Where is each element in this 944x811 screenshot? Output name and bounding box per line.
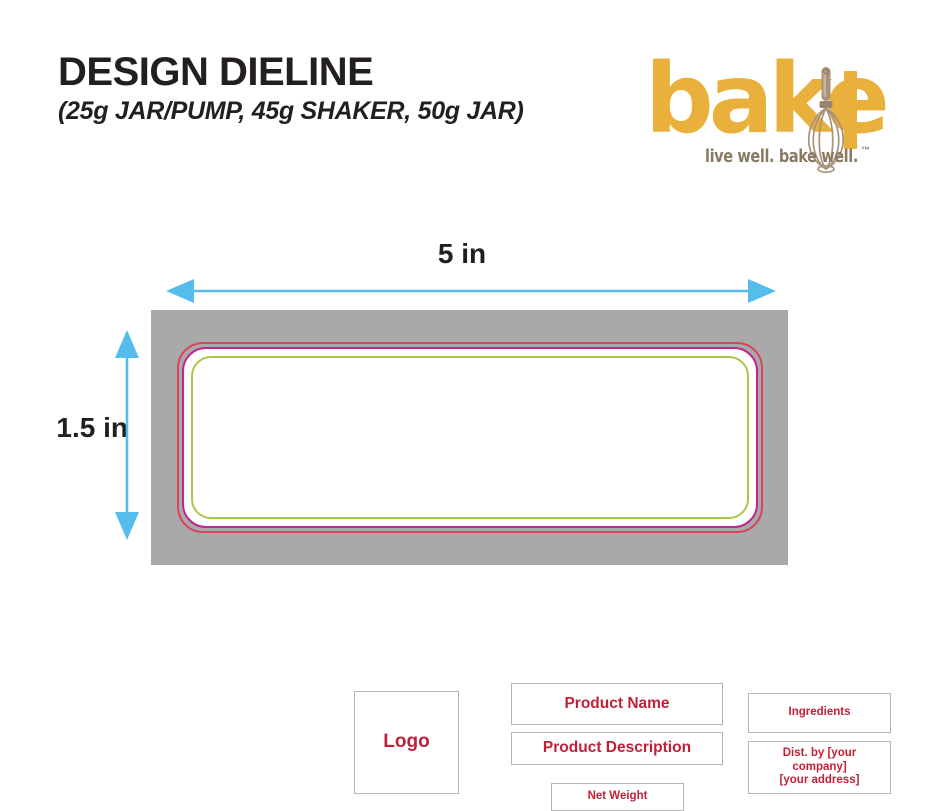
product-description-box[interactable]: Product Description — [511, 732, 723, 765]
distributor-box[interactable]: Dist. by [your company] [your address] — [748, 741, 891, 794]
horizontal-dimension-arrow — [166, 278, 776, 304]
width-dimension-label: 5 in — [0, 238, 944, 270]
trademark-symbol: ™ — [861, 145, 870, 155]
vertical-dimension-arrow — [114, 330, 140, 540]
product-name-box[interactable]: Product Name — [511, 683, 723, 725]
design-dieline-page: DESIGN DIELINE (25g JAR/PUMP, 45g SHAKER… — [0, 0, 944, 700]
logo-tagline: live well. bake well. — [705, 147, 858, 167]
title-block: DESIGN DIELINE (25g JAR/PUMP, 45g SHAKER… — [58, 52, 524, 124]
page-title: DESIGN DIELINE — [58, 52, 524, 92]
net-weight-box[interactable]: Net Weight — [551, 783, 684, 811]
logo-placeholder-box[interactable]: Logo — [354, 691, 459, 794]
safe-zone-guide — [191, 356, 749, 519]
height-dimension-label: 1.5 in — [18, 412, 128, 444]
distributor-line-2: company] — [780, 761, 860, 775]
bakell-logo: bake ™ live well. bake well. — [645, 57, 889, 172]
distributor-line-1: Dist. by [your — [780, 747, 860, 761]
dieline-panel: Logo Product Name Product Description Ne… — [151, 310, 788, 565]
ingredients-box[interactable]: Ingredients — [748, 693, 891, 733]
page-subtitle: (25g JAR/PUMP, 45g SHAKER, 50g JAR) — [58, 99, 524, 124]
distributor-line-3: [your address] — [780, 774, 860, 788]
